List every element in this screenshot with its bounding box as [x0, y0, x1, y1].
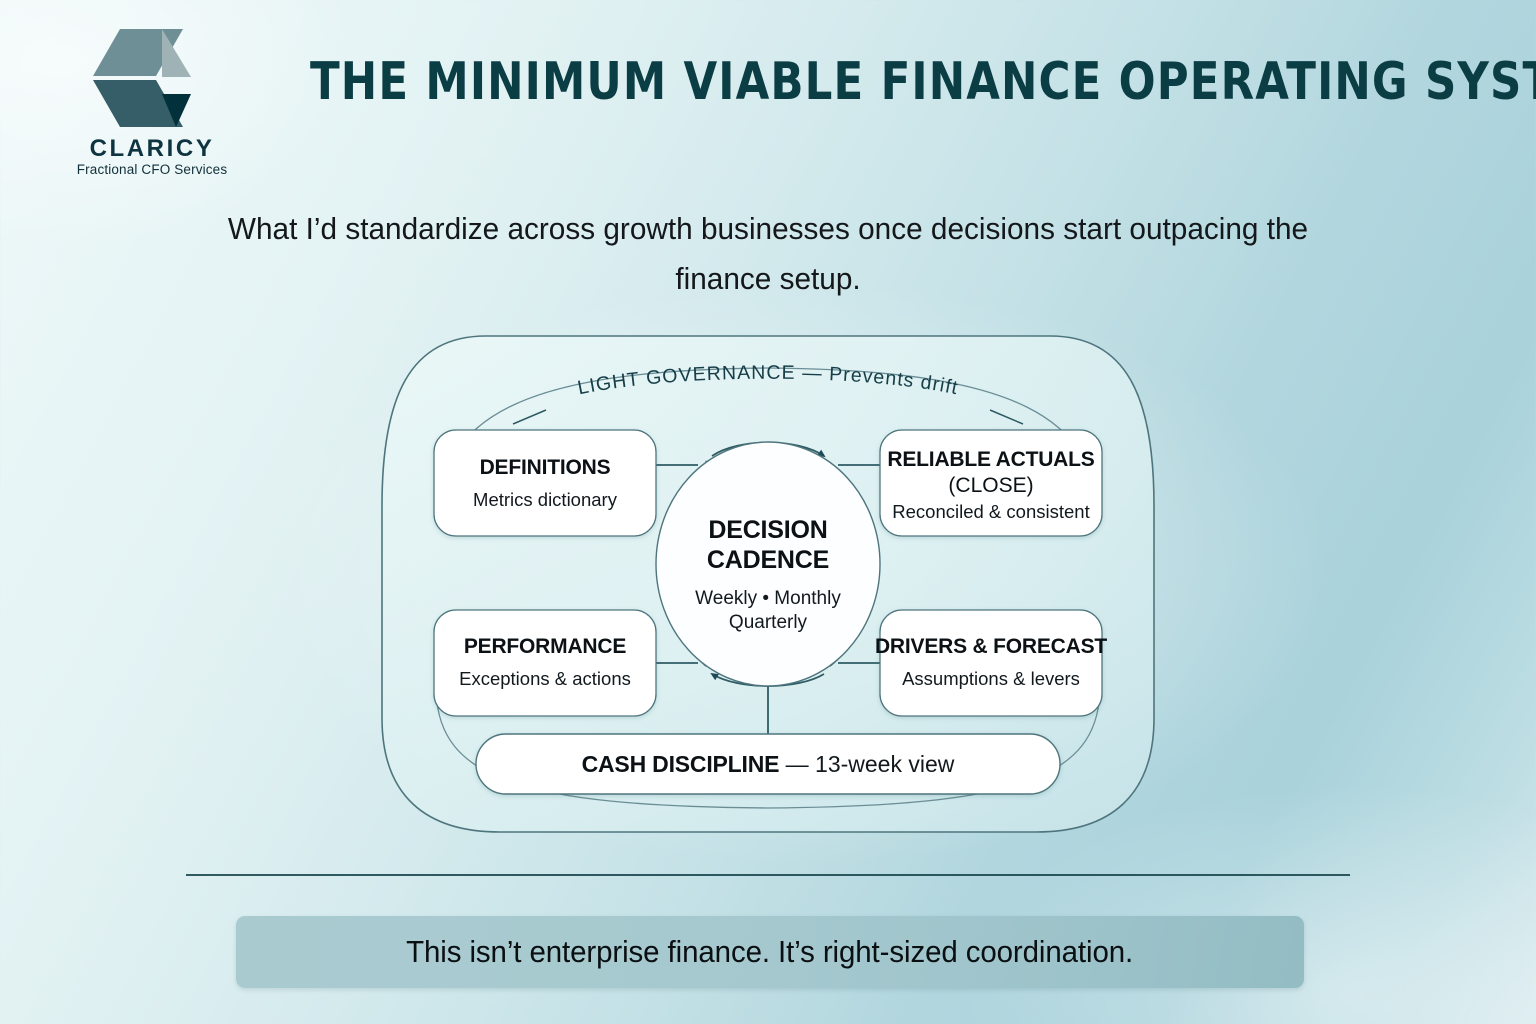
brand-logo: CLARICY Fractional CFO Services: [62, 22, 242, 177]
node-reliable-actuals[interactable]: RELIABLE ACTUALS (CLOSE) Reconciled & co…: [880, 430, 1102, 536]
claricy-c-mark-icon: [86, 22, 218, 134]
footer-callout-text: This isn’t enterprise finance. It’s righ…: [406, 934, 1133, 970]
decision-cadence-hub[interactable]: DECISION CADENCE Weekly • Monthly Quarte…: [656, 442, 880, 686]
cash-discipline-strong: CASH DISCIPLINE: [582, 751, 780, 777]
node-performance[interactable]: PERFORMANCE Exceptions & actions: [434, 610, 656, 716]
finance-operating-system-diagram: LIGHT GOVERNANCE — Prevents drift DECISI…: [368, 326, 1168, 846]
node-drivers-forecast[interactable]: DRIVERS & FORECAST Assumptions & levers: [875, 610, 1107, 716]
node-reliable-actuals-subtitle: Reconciled & consistent: [892, 501, 1089, 522]
hub-title-line2: CADENCE: [707, 546, 829, 574]
hub-sub-line2: Quarterly: [729, 612, 808, 633]
section-divider: [186, 874, 1350, 876]
node-definitions-title: DEFINITIONS: [480, 456, 611, 479]
footer-callout-banner: This isn’t enterprise finance. It’s righ…: [236, 916, 1304, 988]
brand-name: CLARICY: [62, 136, 242, 161]
node-cash-discipline[interactable]: CASH DISCIPLINE — 13-week view: [476, 734, 1060, 794]
node-drivers-forecast-title: DRIVERS & FORECAST: [875, 635, 1107, 658]
node-drivers-forecast-subtitle: Assumptions & levers: [902, 668, 1080, 689]
node-performance-subtitle: Exceptions & actions: [459, 668, 631, 689]
node-definitions-subtitle: Metrics dictionary: [473, 489, 618, 510]
hub-title-line1: DECISION: [708, 516, 827, 544]
page-title: THE MINIMUM VIABLE FINANCE OPERATING SYS…: [310, 52, 1426, 112]
page-subtitle: What I’d standardize across growth busin…: [202, 204, 1335, 304]
node-performance-title: PERFORMANCE: [464, 635, 626, 658]
brand-tagline: Fractional CFO Services: [62, 162, 242, 177]
svg-text:CASH DISCIPLINE — 13-week view: CASH DISCIPLINE — 13-week view: [582, 751, 955, 777]
cash-discipline-light: — 13-week view: [779, 751, 955, 777]
node-definitions[interactable]: DEFINITIONS Metrics dictionary: [434, 430, 656, 536]
node-reliable-actuals-title-secondary: (CLOSE): [948, 474, 1033, 497]
hub-sub-line1: Weekly • Monthly: [695, 588, 841, 609]
node-reliable-actuals-title: RELIABLE ACTUALS: [887, 448, 1094, 471]
